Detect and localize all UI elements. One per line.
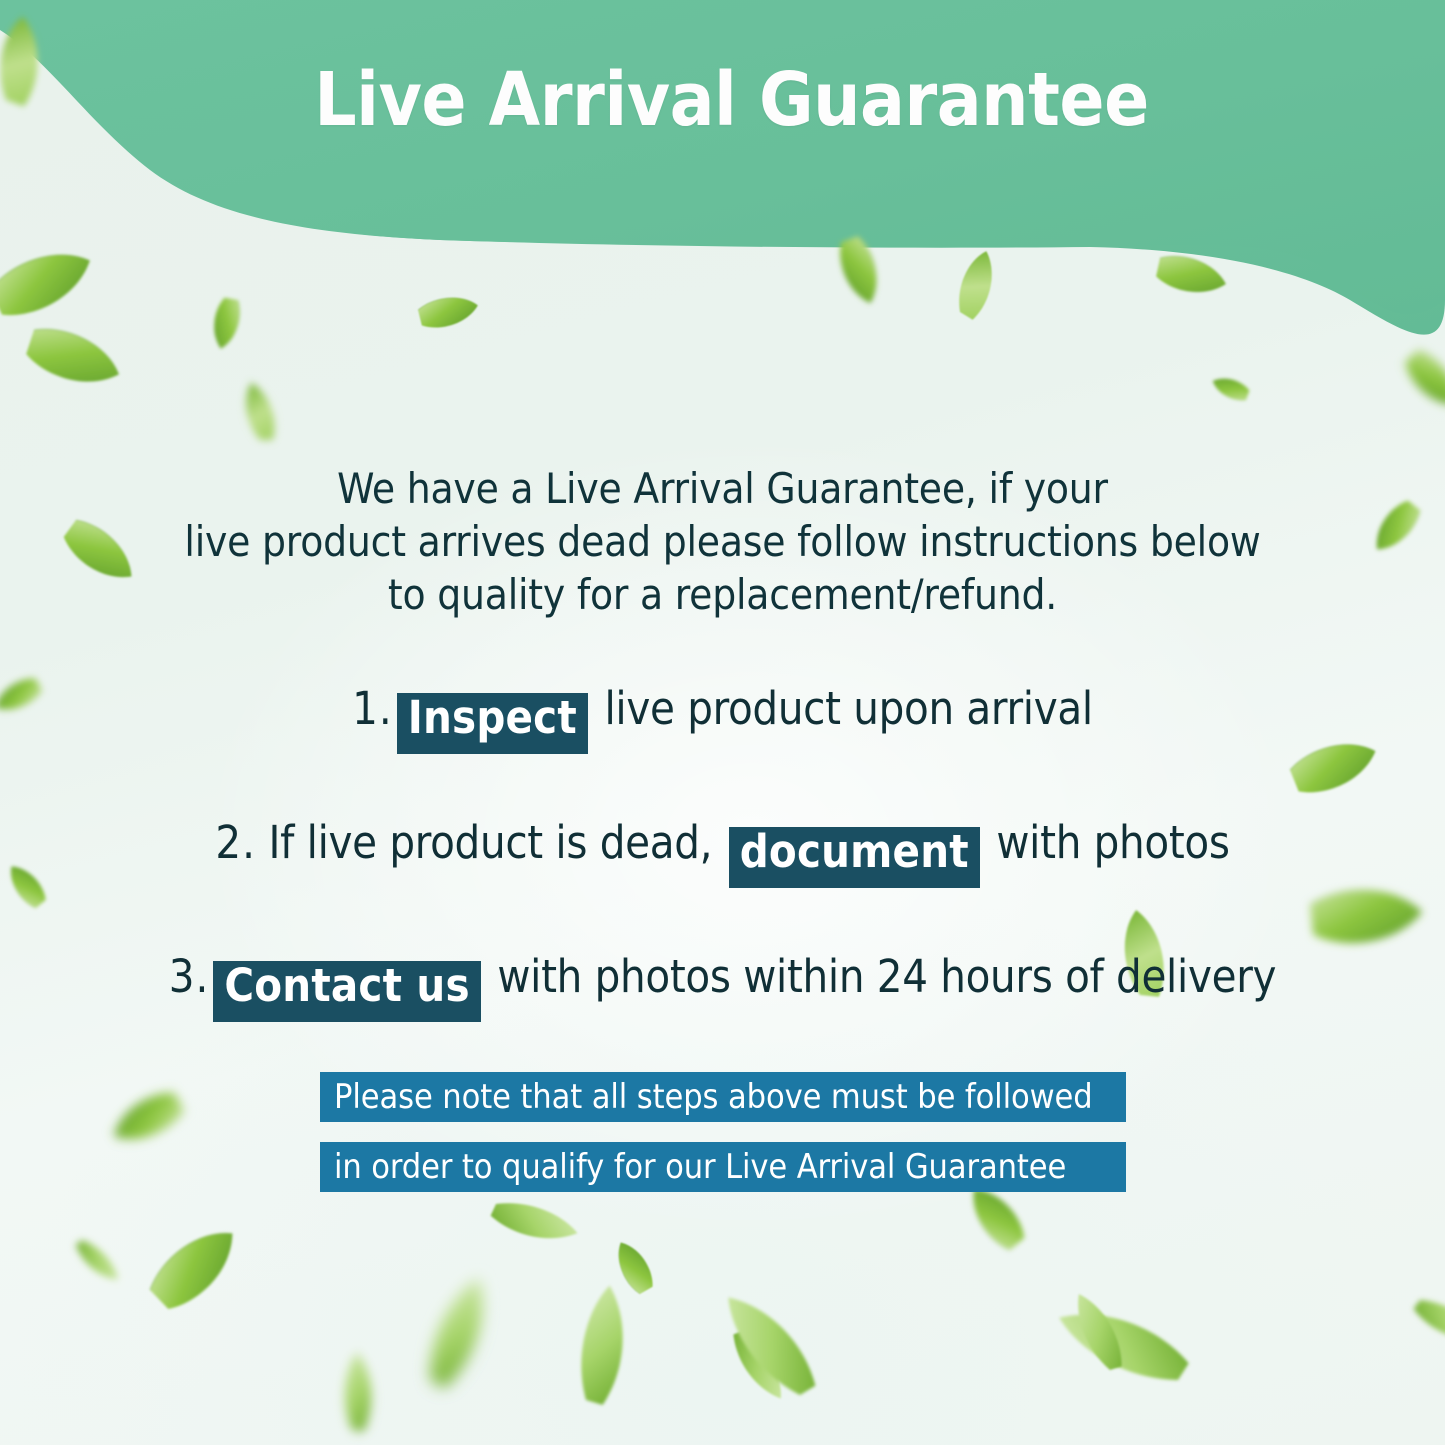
step-1-text-after: live product upon arrival — [592, 682, 1093, 735]
step-item-3: 3.Contact us with photos within 24 hours… — [0, 948, 1445, 1022]
step-3-highlight-contact-us[interactable]: Contact us — [213, 961, 480, 1022]
poster-canvas: Live Arrival Guarantee — [0, 0, 1445, 1445]
footer-note-line-1: Please note that all steps above must be… — [320, 1072, 1126, 1122]
step-2-highlight-document[interactable]: document — [729, 827, 980, 888]
step-3-text-after: with photos within 24 hours of delivery — [485, 950, 1276, 1003]
step-item-1: 1.Inspect live product upon arrival — [0, 680, 1445, 754]
intro-line-2: live product arrives dead please follow … — [0, 515, 1445, 568]
intro-paragraph: We have a Live Arrival Guarantee, if you… — [0, 462, 1445, 621]
footer-note-line-2: in order to qualify for our Live Arrival… — [320, 1142, 1126, 1192]
steps-list: 1.Inspect live product upon arrival 2. I… — [0, 680, 1445, 1022]
step-1-number: 1. — [352, 682, 393, 735]
step-2-number: 2. — [215, 816, 256, 869]
intro-line-3: to quality for a replacement/refund. — [0, 568, 1445, 621]
step-2-text-before: If live product is dead, — [256, 816, 725, 869]
intro-line-1: We have a Live Arrival Guarantee, if you… — [0, 462, 1445, 515]
main-content: We have a Live Arrival Guarantee, if you… — [0, 0, 1445, 1445]
footer-notes: Please note that all steps above must be… — [320, 1072, 1126, 1192]
step-item-2: 2. If live product is dead, document wit… — [0, 814, 1445, 888]
step-3-number: 3. — [169, 950, 210, 1003]
step-2-text-after: with photos — [984, 816, 1230, 869]
step-1-highlight-inspect[interactable]: Inspect — [397, 693, 588, 754]
